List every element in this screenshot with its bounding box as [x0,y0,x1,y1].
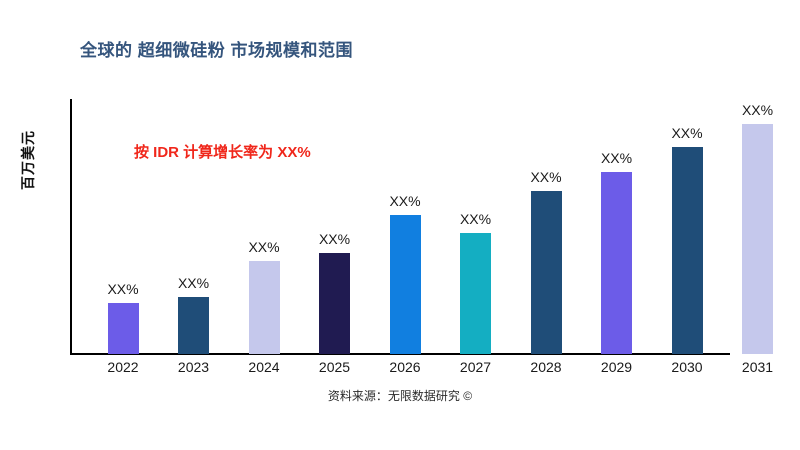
plot-area: 按 IDR 计算增长率为 XX% XX%XX%XX%XX%XX%XX%XX%XX… [0,0,800,450]
bar-2023 [178,297,209,354]
bar-2022 [108,303,139,354]
bar-2024 [249,261,280,354]
x-tick-2028: 2028 [516,359,576,375]
bar-2026 [390,215,421,354]
x-tick-2025: 2025 [305,359,365,375]
bar-value-label-2023: XX% [164,275,224,291]
x-tick-2030: 2030 [657,359,717,375]
x-tick-2026: 2026 [375,359,435,375]
bar-value-label-2030: XX% [657,125,717,141]
bar-value-label-2031: XX% [728,102,788,118]
bar-value-label-2026: XX% [375,193,435,209]
bar-value-label-2028: XX% [516,169,576,185]
bar-2028 [531,191,562,354]
bar-2030 [672,147,703,354]
bar-value-label-2029: XX% [587,150,647,166]
bar-value-label-2025: XX% [305,231,365,247]
x-tick-2027: 2027 [446,359,506,375]
chart-screenshot: 全球的 超细微硅粉 市场规模和范围 百万美元 按 IDR 计算增长率为 XX% … [0,0,800,450]
bar-value-label-2024: XX% [234,239,294,255]
growth-rate-annotation: 按 IDR 计算增长率为 XX% [134,141,311,162]
bar-2025 [319,253,350,354]
x-tick-2024: 2024 [234,359,294,375]
bar-value-label-2027: XX% [446,211,506,227]
bar-2029 [601,172,632,354]
x-tick-2023: 2023 [164,359,224,375]
x-tick-2029: 2029 [587,359,647,375]
source-note: 资料来源：无限数据研究 © [0,387,800,404]
x-tick-2031: 2031 [728,359,788,375]
bar-2031 [742,124,773,354]
bar-2027 [460,233,491,354]
y-axis-line [70,99,72,355]
x-tick-2022: 2022 [93,359,153,375]
bar-value-label-2022: XX% [93,281,153,297]
